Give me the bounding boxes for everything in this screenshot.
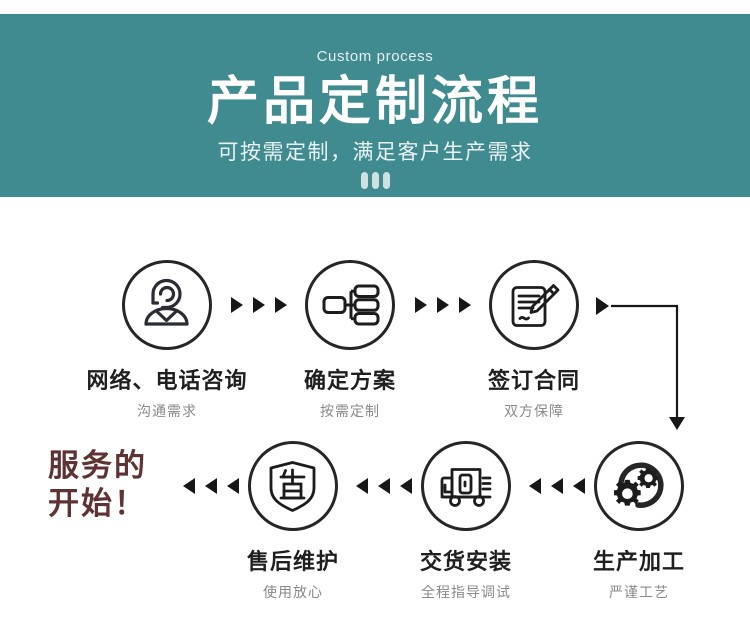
arrow-left-icon	[529, 478, 541, 494]
step-after-sales[interactable]: 售后维护 使用放心	[205, 441, 381, 602]
step-production[interactable]: 生产加工 严谨工艺	[551, 441, 727, 602]
after-sales-shield-icon	[248, 441, 338, 531]
arrow-down-icon	[669, 417, 685, 430]
step-consultation[interactable]: 网络、电话咨询 沟通需求	[79, 260, 255, 421]
banner-dot	[372, 172, 379, 189]
service-start-line2: 开始！	[48, 485, 188, 523]
step-subtitle: 全程指导调试	[378, 582, 554, 602]
page-banner: Custom process 产品定制流程 可按需定制，满足客户生产需求	[0, 14, 750, 197]
flowchart-icon	[305, 260, 395, 350]
arrow-left-icon	[356, 478, 368, 494]
step-title: 售后维护	[205, 544, 381, 576]
page-title: 产品定制流程	[0, 71, 750, 133]
banner-dots-decoration	[0, 172, 750, 189]
step-title: 生产加工	[551, 544, 727, 576]
step-subtitle: 使用放心	[205, 582, 381, 602]
arrow-left-icon	[183, 478, 195, 494]
step-subtitle: 严谨工艺	[551, 582, 727, 602]
step-delivery[interactable]: 交货安装 全程指导调试	[378, 441, 554, 602]
step-plan[interactable]: 确定方案 按需定制	[262, 260, 438, 421]
contract-sign-icon	[489, 260, 579, 350]
delivery-truck-icon	[421, 441, 511, 531]
process-flow-diagram: 网络、电话咨询 沟通需求 确定方案 按需定制	[0, 197, 750, 630]
step-subtitle: 沟通需求	[79, 401, 255, 421]
service-start-line1: 服务的	[48, 447, 188, 485]
arrow-right-icon	[231, 297, 243, 313]
service-start-label: 服务的 开始！	[48, 447, 188, 523]
flow-connector-elbow	[592, 287, 692, 437]
banner-dot	[361, 172, 368, 189]
step-title: 确定方案	[262, 363, 438, 395]
banner-eyebrow-text: Custom process	[0, 48, 750, 65]
step-title: 交货安装	[378, 544, 554, 576]
gears-production-icon	[594, 441, 684, 531]
step-title: 网络、电话咨询	[79, 363, 255, 395]
banner-subtitle: 可按需定制，满足客户生产需求	[0, 136, 750, 166]
customer-service-icon	[122, 260, 212, 350]
banner-dot	[383, 172, 390, 189]
step-subtitle: 按需定制	[262, 401, 438, 421]
arrow-right-icon	[415, 297, 427, 313]
arrow-right-icon	[596, 297, 609, 315]
